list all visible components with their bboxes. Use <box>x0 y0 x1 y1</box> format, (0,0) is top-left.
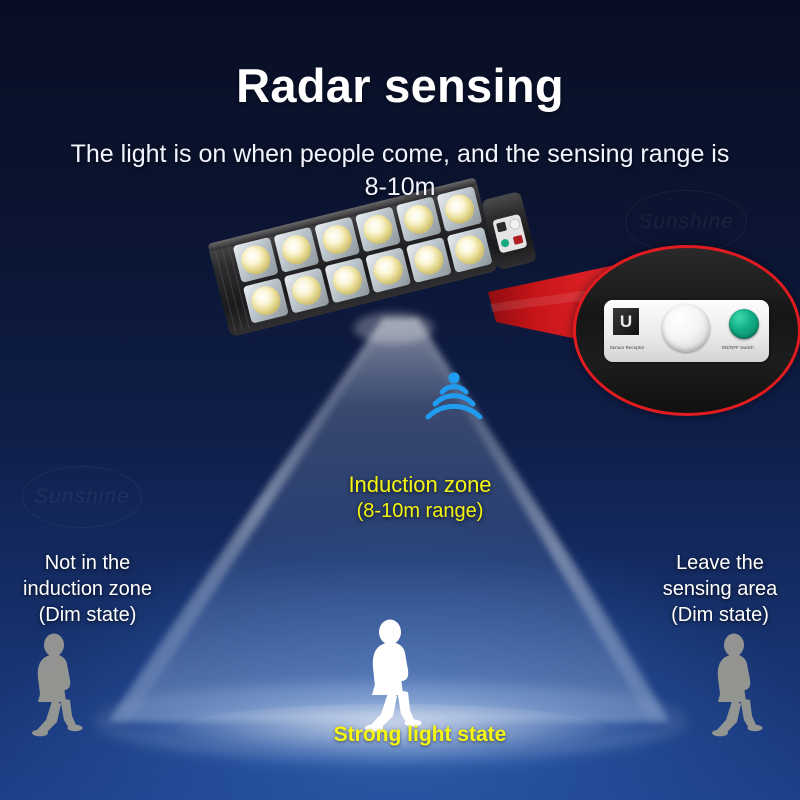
onoff-switch-button[interactable] <box>729 309 759 339</box>
right-zone-line-1: Leave the <box>640 550 800 576</box>
sensor-receptor-icon: U <box>613 308 639 335</box>
led-street-lamp <box>198 178 538 358</box>
sensor-detail-callout[interactable]: U Sensor Receptor ON/OFF Switch <box>573 245 800 416</box>
sensor-panel: U Sensor Receptor ON/OFF Switch <box>604 300 769 362</box>
right-zone-line-3: (Dim state) <box>640 602 800 628</box>
onoff-switch-label: ON/OFF Switch <box>722 345 754 350</box>
walking-person-icon-left <box>20 632 92 740</box>
watermark-text: Sunshine <box>638 210 734 234</box>
page-title: Radar sensing <box>0 58 800 113</box>
left-zone-line-2: induction zone <box>0 576 175 602</box>
infographic-canvas: Sunshine Sunshine <box>0 0 800 800</box>
induction-zone-caption: Induction zone (8-10m range) <box>300 472 540 524</box>
walking-person-icon-center <box>352 618 432 736</box>
watermark-mid-left: Sunshine <box>22 466 142 528</box>
pir-sensor-dome-icon <box>662 304 710 352</box>
right-zone-line-2: sensing area <box>640 576 800 602</box>
left-zone-caption: Not in the induction zone (Dim state) <box>0 550 175 628</box>
left-zone-line-1: Not in the <box>0 550 175 576</box>
induction-zone-line-1: Induction zone <box>300 472 540 498</box>
walking-person-icon-right <box>700 632 772 740</box>
radar-wave-icon <box>424 372 484 424</box>
right-zone-caption: Leave the sensing area (Dim state) <box>640 550 800 628</box>
left-zone-line-3: (Dim state) <box>0 602 175 628</box>
sensor-receptor-label: Sensor Receptor <box>610 345 645 350</box>
watermark-text: Sunshine <box>34 485 130 509</box>
page-subtitle: The light is on when people come, and th… <box>60 138 740 204</box>
sensor-receptor-glyph: U <box>620 313 632 330</box>
induction-zone-line-2: (8-10m range) <box>300 498 540 524</box>
